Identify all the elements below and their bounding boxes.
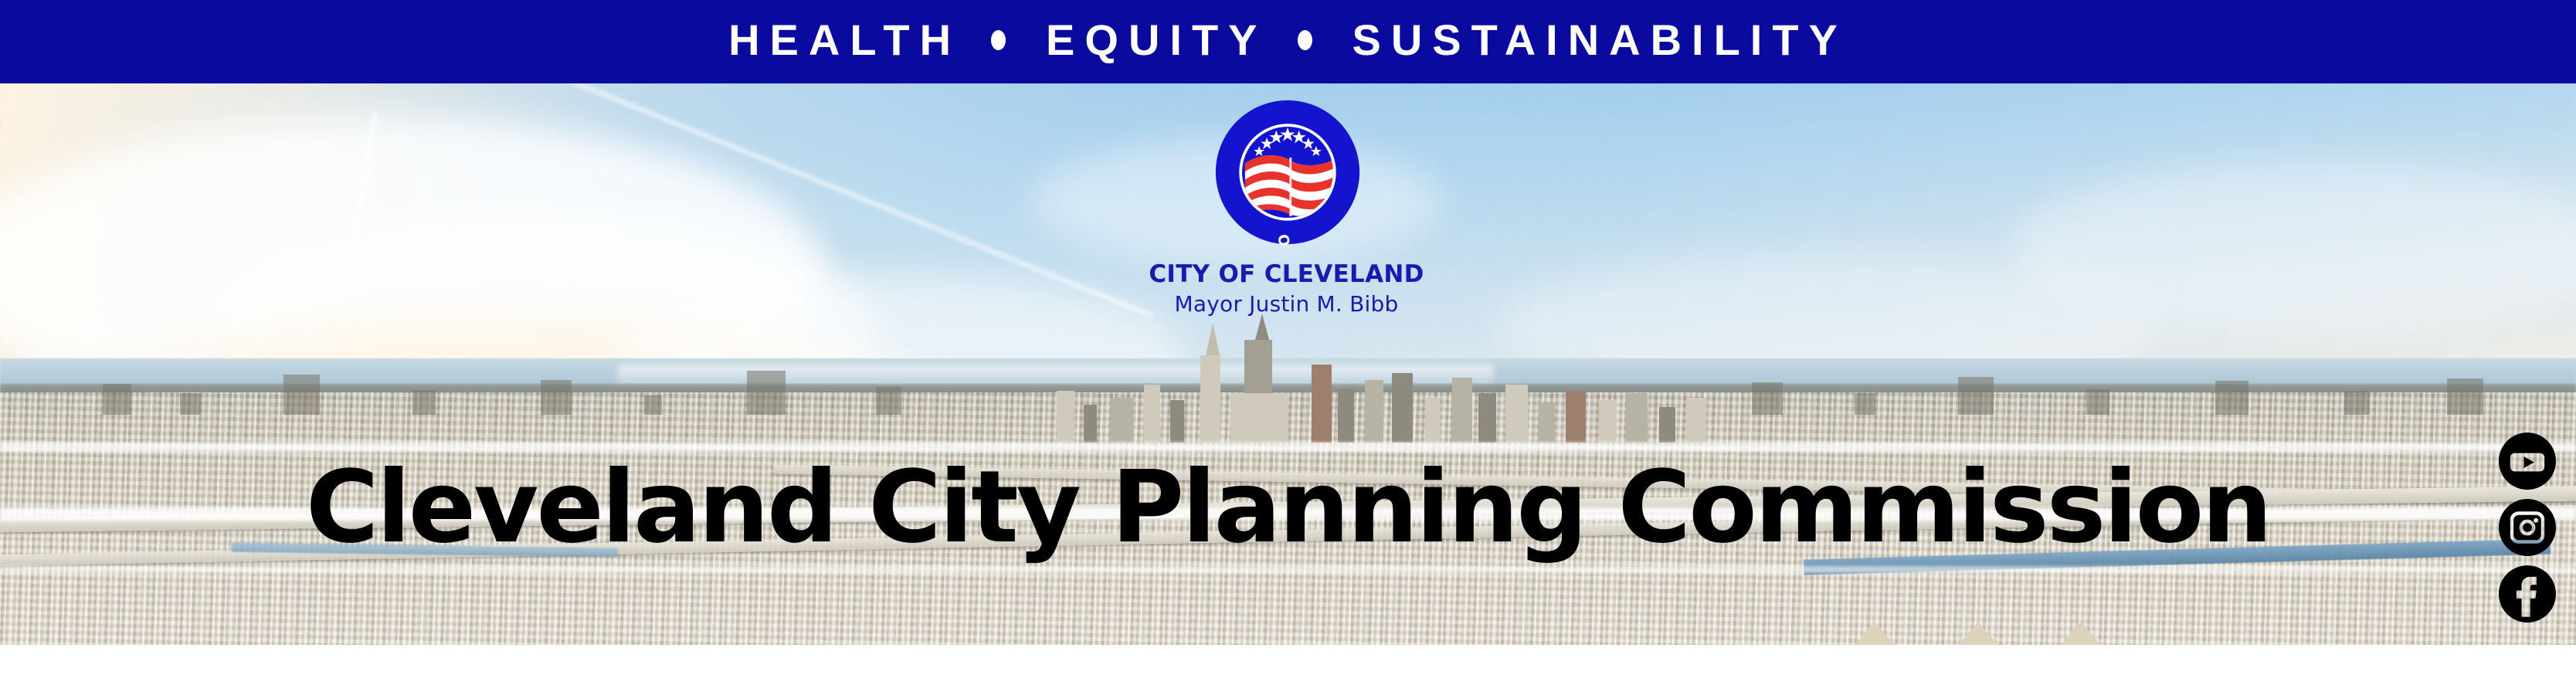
social-link-instagram[interactable] <box>2499 499 2556 556</box>
tagline-word-health: HEALTH <box>728 19 961 62</box>
downtown-skyline <box>1044 331 1713 443</box>
logo-wordmark: CITY OF CLEVELAND Mayor Justin M. Bibb <box>0 263 2576 315</box>
social-links <box>2498 433 2557 623</box>
mayor-name-label: Mayor Justin M. Bibb <box>1149 293 1424 315</box>
bottom-white-strip <box>0 645 2576 682</box>
gravel-pile <box>2061 622 2101 645</box>
gravel-pile <box>1855 622 1895 645</box>
bullet-dot-icon <box>1298 30 1312 50</box>
page-title: Cleveland City Planning Commission <box>0 458 2576 558</box>
city-name-label: CITY OF CLEVELAND <box>1149 263 1424 287</box>
youtube-icon <box>2499 433 2556 490</box>
snow-band <box>0 566 2576 573</box>
city-of-cleveland-seal-icon: CITY OF CLEVELAND OHIO <box>1214 99 1361 246</box>
bullet-dot-icon <box>991 30 1006 50</box>
social-link-facebook[interactable] <box>2499 565 2556 623</box>
tagline-word-sustainability: SUSTAINABILITY <box>1352 19 1848 62</box>
gravel-pile <box>1958 622 1998 645</box>
instagram-icon <box>2499 499 2556 556</box>
tagline-word-equity: EQUITY <box>1046 19 1267 62</box>
facebook-icon <box>2499 565 2556 623</box>
tagline-inner: HEALTH EQUITY SUSTAINABILITY <box>728 19 1848 62</box>
social-link-youtube[interactable] <box>2499 433 2556 490</box>
tagline-banner: HEALTH EQUITY SUSTAINABILITY <box>0 0 2576 83</box>
